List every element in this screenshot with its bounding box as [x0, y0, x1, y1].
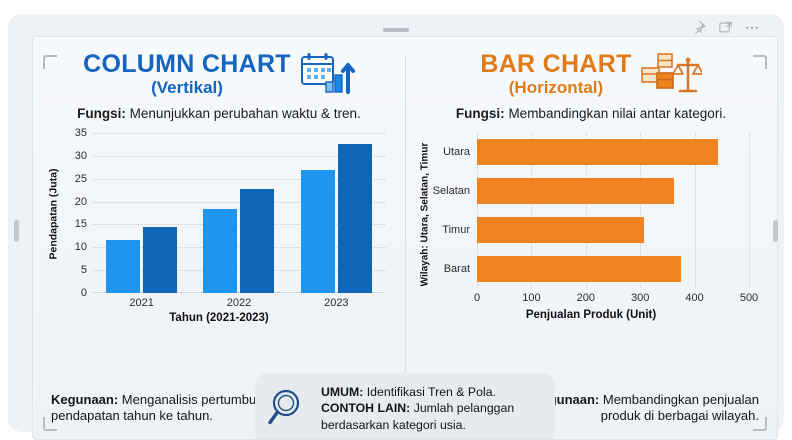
- x-tick: 200: [577, 292, 595, 304]
- column-x-ticks: 2021 2022 2023: [93, 297, 385, 309]
- panel-divider: [405, 55, 406, 373]
- column-plot: 35 30 25 20 15 10 5 0: [93, 133, 385, 293]
- hbar-utara[interactable]: [477, 139, 718, 165]
- column-kegunaan: Kegunaan: Menganalisis pertumbuhan penda…: [51, 392, 281, 425]
- bar-fungsi-text: Membandingkan nilai antar kategori.: [508, 106, 726, 121]
- hbar-barat[interactable]: [477, 256, 681, 282]
- bar-2023-s2[interactable]: [338, 144, 372, 293]
- bar-cat-label: Selatan: [433, 185, 470, 197]
- hbar-selatan[interactable]: [477, 178, 674, 204]
- screenshot-root: ⋯ COLUMN CHART (Vertikal): [0, 0, 792, 436]
- calendar-bar-growth-icon: [299, 51, 355, 97]
- bar-row-barat: Barat: [477, 256, 749, 282]
- tip-contoh-label: CONTOH LAIN:: [321, 401, 410, 415]
- boxes-scale-icon: [640, 51, 702, 97]
- bar-group-2022: [203, 133, 274, 293]
- bar-fungsi-line: Fungsi: Membandingkan nilai antar katego…: [419, 106, 763, 121]
- x-tick: 300: [631, 292, 649, 304]
- bar-plot: Utara Selatan Timur: [477, 133, 749, 288]
- column-title-sub: (Vertikal): [83, 79, 291, 96]
- expand-icon[interactable]: [718, 20, 733, 35]
- x-tick: 400: [685, 292, 703, 304]
- bar-rows: Utara Selatan Timur: [477, 133, 749, 288]
- bar-row-utara: Utara: [477, 139, 749, 165]
- bar-kegunaan: Kegunaan: Membandingkan penjualan produk…: [527, 392, 759, 425]
- resize-handle-bottom-left[interactable]: [43, 417, 57, 431]
- resize-handle-bottom-right[interactable]: [753, 417, 767, 431]
- x-tick: 2022: [227, 297, 251, 309]
- bar-group-2023: [301, 133, 372, 293]
- x-tick: 0: [474, 292, 480, 304]
- bar-title-main: BAR CHART: [480, 52, 631, 78]
- more-options-icon[interactable]: ⋯: [745, 22, 760, 32]
- y-tick: 15: [75, 218, 87, 230]
- tip-bubble: UMUM: Identifikasi Tren & Pola. CONTOH L…: [255, 373, 555, 440]
- bar-group-2021: [106, 133, 177, 293]
- y-tick: 10: [75, 241, 87, 253]
- column-fungsi-text: Menunjukkan perubahan waktu & tren.: [130, 106, 361, 121]
- y-tick: 20: [75, 196, 87, 208]
- bar-2022-s2[interactable]: [240, 189, 274, 293]
- column-title-main: COLUMN CHART: [83, 52, 291, 78]
- column-fungsi-line: Fungsi: Menunjukkan perubahan waktu & tr…: [47, 106, 391, 121]
- bar-2022-s1[interactable]: [203, 209, 237, 293]
- bar-fungsi-label: Fungsi:: [456, 106, 505, 121]
- x-tick: 500: [740, 292, 758, 304]
- y-tick: 5: [81, 264, 87, 276]
- column-x-axis-label: Tahun (2021-2023): [47, 312, 391, 324]
- bar-2023-s1[interactable]: [301, 170, 335, 293]
- y-tick: 0: [81, 287, 87, 299]
- column-chart-area: Pendapatan (Juta): [47, 129, 391, 325]
- tip-umum-label: UMUM:: [321, 385, 363, 399]
- y-tick: 35: [75, 127, 87, 139]
- column-chart-title: COLUMN CHART (Vertikal): [47, 51, 391, 97]
- column-bars: [93, 133, 385, 293]
- bar-cat-label: Utara: [443, 146, 470, 158]
- y-tick: 30: [75, 150, 87, 162]
- x-tick: 2021: [129, 297, 153, 309]
- column-fungsi-label: Fungsi:: [77, 106, 126, 121]
- bar-kegunaan-text: Membandingkan penjualan produk di berbag…: [601, 392, 759, 424]
- content-card: COLUMN CHART (Vertikal): [32, 36, 778, 440]
- bar-cat-label: Barat: [444, 263, 470, 275]
- resize-handle-top-right[interactable]: [753, 55, 767, 69]
- scrollbar-right[interactable]: [773, 220, 778, 242]
- scrollbar-left[interactable]: [14, 220, 19, 242]
- tip-text: UMUM: Identifikasi Tren & Pola. CONTOH L…: [321, 384, 543, 433]
- bar-row-selatan: Selatan: [477, 178, 749, 204]
- bar-2021-s2[interactable]: [143, 227, 177, 293]
- pin-icon[interactable]: [691, 20, 706, 35]
- bar-row-timur: Timur: [477, 217, 749, 243]
- column-y-axis-label: Pendapatan (Juta): [45, 129, 61, 299]
- magnifier-icon: [267, 386, 311, 430]
- bar-chart-area: Wilayah: Utara, Selatan, Timur: [419, 129, 763, 325]
- x-tick: 2023: [324, 297, 348, 309]
- column-kegunaan-label: Kegunaan:: [51, 392, 118, 407]
- resize-handle-top-left[interactable]: [43, 55, 57, 69]
- y-tick: 25: [75, 173, 87, 185]
- tip-umum-text: Identifikasi Tren & Pola.: [367, 385, 496, 399]
- hbar-timur[interactable]: [477, 217, 644, 243]
- bar-chart-title: BAR CHART (Horizontal): [419, 51, 763, 97]
- window-shell: ⋯ COLUMN CHART (Vertikal): [8, 14, 784, 432]
- bar-y-axis-label: Wilayah: Utara, Selatan, Timur: [417, 129, 433, 299]
- bar-x-axis-label: Penjualan Produk (Unit): [419, 309, 763, 321]
- x-tick: 100: [522, 292, 540, 304]
- bar-title-sub: (Horizontal): [480, 79, 631, 96]
- bar-2021-s1[interactable]: [106, 240, 140, 293]
- bar-cat-label: Timur: [442, 224, 470, 236]
